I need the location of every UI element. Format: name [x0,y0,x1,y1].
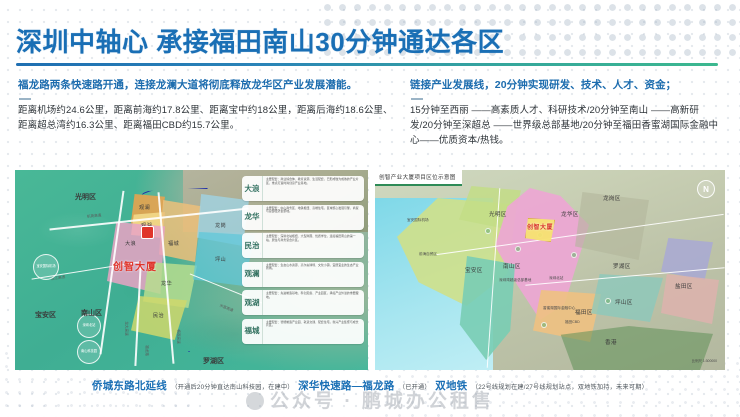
info-card-body: 主要配套：商业综合体、教育资源、生活配套，已形成较为成熟的产业片区，重点打造时尚… [263,176,364,201]
caption-note-3: （22号线规划在建/27号线规划站点，双地铁加持，未来可期） [472,384,648,391]
caption-note-2: （已开通） [399,384,431,391]
caption-note-1: （开通后20分钟直达南山科技园，在建中） [171,384,293,391]
right-map-poi-label-1: 前海自贸区 [419,252,437,257]
left-map-info-card-list: 大浪 主要配套：商业综合体、教育资源、生活配套，已形成较为成熟的产业片区，重点打… [242,176,364,347]
right-map-poi-label-0: 宝安国际机场 [407,218,429,223]
right-map-district-label-6: 福田区 [575,308,593,316]
right-map-poi-dot-4 [541,322,547,328]
right-map-district-label-9: 香港 [605,338,617,346]
left-map-poi-tech-park-label: 南山科技园 [81,350,97,354]
left-map-sub-label-4: 观澜 [139,204,150,211]
right-map-image: 创智大厦 光明区 龙华区 龙岗区 宝安区 南山区 罗湖区 福田区 盐田区 坪山区… [375,170,725,370]
left-map-poi-airport-label: 宝安国际机场 [36,265,55,269]
right-map-poi-dot-0 [485,228,491,234]
left-map-sub-label-5: 龙华 [161,280,172,287]
info-card[interactable]: 大浪 主要配套：商业综合体、教育资源、生活配套，已形成较为成熟的产业片区，重点打… [242,176,364,201]
info-card-key: 龙华 [242,205,263,230]
watermark-logo-icon [246,392,264,410]
intro-column-right: 链接产业发展线，20分钟实现研发、技术、人才、资金； 15分钟至西丽 ——高素质… [410,78,722,148]
right-tick-divider [411,98,423,100]
info-card-key: 观湖 [242,290,263,315]
info-card-body: 主要配套：智能制造产业园、轨道交通、配套住宅，新兴产业集聚与成长片区。 [263,319,364,344]
page-header: 深圳中轴心 承接福田南山30分钟通达各区 [0,22,740,70]
caption-highlight-3: 双地铁 [435,380,467,392]
left-map-road-label-3: 梅观高速 [176,329,181,343]
intro-column-left: 福龙路两条快速路开通，连接龙澜大道将彻底释放龙华区产业发展潜能。 距离机场约24… [18,78,396,134]
compass-icon: N [697,180,715,198]
info-card[interactable]: 龙华 主要配套：中心商务区、地铁枢纽、高端住宅，区域核心发展引擎，商贸与总部经济… [242,205,364,230]
right-map-district-label-7: 盐田区 [675,282,693,290]
left-map-district-label-5: 坪山 [215,256,226,263]
right-map-district-label-4: 南山区 [503,262,521,270]
left-map-district-label-0: 光明区 [75,192,96,202]
info-card-key: 大浪 [242,176,263,201]
right-map-title-banner: 创智产业大厦项目区位示意图 [375,170,462,186]
info-card-key: 观澜 [242,262,263,287]
info-card-body: 主要配套：先进制造基地、科创走廊、产业园区，承接产业外溢的重要腹地。 [263,290,364,315]
right-map-district-label-3: 宝安区 [465,266,483,274]
left-map-district-label-3: 罗湖区 [203,356,224,366]
maps-row: 机荷高速 沿江高速 龙大高速 梅观高速 福龙路 水官高速 宝安国际机场 深圳北站… [0,170,740,370]
title-divider-rule [16,63,718,66]
left-map-road-label-4: 福龙路 [144,345,149,356]
info-card[interactable]: 福城 主要配套：智能制造产业园、轨道交通、配套住宅，新兴产业集聚与成长片区。 [242,319,364,344]
page-title: 深圳中轴心 承接福田南山30分钟通达各区 [16,22,504,59]
right-body-text: 15分钟至西丽 ——高素质人才、科研技术/20分钟至南山 ——高新研发/20分钟… [410,104,722,148]
page-title-part-2: 承接福田南山30分钟通达各区 [156,27,504,57]
left-map-poi-airport: 宝安国际机场 [33,254,59,280]
right-map-poi-dot-1 [515,246,521,252]
right-lead-text: 链接产业发展线，20分钟实现研发、技术、人才、资金； [410,78,722,93]
left-map-poi-north-station-label: 深圳北站 [83,324,96,328]
left-tick-divider [19,98,31,100]
left-map-project-marker [141,226,154,239]
right-map-district-label-1: 龙华区 [561,210,579,218]
right-map-poi-label-5: 福田CBD [565,320,580,325]
left-map-sub-label-6: 民治 [153,312,164,319]
left-map-district-label-1: 宝安区 [35,310,56,320]
right-map-poi-label-4: 香蜜湖国际金融中心 [543,306,575,311]
info-card-key: 民治 [242,233,263,258]
right-map-district-label-0: 光明区 [489,210,507,218]
right-map-project-label: 创智大厦 [527,222,553,231]
info-card[interactable]: 民治 主要配套：深圳北站枢纽、大型商圈、优质学位，连接福田南山的第一站，居住与商… [242,233,364,258]
caption-highlight-2: 深华快速路—福龙路 [298,380,394,392]
left-body-text: 距离机场约24.6公里，距离前海约17.8公里、距离宝中约18公里，距离后海约1… [18,104,396,133]
info-card[interactable]: 观澜 主要配套：生态山水资源、高尔夫球场、文化小镇，宜居宜业的生态产业新城。 [242,262,364,287]
left-map-sub-label-2: 大浪 [125,240,136,247]
info-card[interactable]: 观湖 主要配套：先进制造基地、科创走廊、产业园区，承接产业外溢的重要腹地。 [242,290,364,315]
right-map-district-label-8: 坪山区 [615,298,633,306]
right-map-district-label-5: 罗湖区 [613,262,631,270]
intro-columns: 福龙路两条快速路开通，连接龙澜大道将彻底释放龙华区产业发展潜能。 距离机场约24… [0,78,740,162]
info-card-body: 主要配套：生态山水资源、高尔夫球场、文化小镇，宜居宜业的生态产业新城。 [263,262,364,287]
right-map-poi-dot-5 [605,298,611,304]
page-title-part-1: 深圳中轴心 [16,27,149,57]
right-map-poi-dot-3 [571,252,577,258]
right-map-poi-label-3: 深圳北站 [549,276,563,281]
left-map-image: 机荷高速 沿江高速 龙大高速 梅观高速 福龙路 水官高速 宝安国际机场 深圳北站… [15,170,368,370]
compass-north-label: N [703,185,709,194]
right-map-scale-label: 比例尺 1:300000 [692,358,717,363]
info-card-key: 福城 [242,319,263,344]
watermark-text: 公众号 · 鹏城办公租售 [270,391,494,412]
info-card-body: 主要配套：深圳北站枢纽、大型商圈、优质学位，连接福田南山的第一站，居住与商务复合… [263,233,364,258]
caption-highlight-1: 侨城东路北延线 [92,380,167,392]
left-map-district-label-2: 南山区 [81,308,102,318]
left-map-road-label-2: 龙大高速 [124,321,129,335]
left-lead-text: 福龙路两条快速路开通，连接龙澜大道将彻底释放龙华区产业发展潜能。 [18,78,396,93]
left-map-sub-label-3: 福城 [168,240,179,247]
right-map-district-label-2: 龙岗区 [603,194,621,202]
bottom-caption: 侨城东路北延线 （开通后20分钟直达南山科技园，在建中） 深华快速路—福龙路 （… [0,376,740,392]
left-map-project-label: 创智大厦 [113,258,157,273]
info-card-body: 主要配套：中心商务区、地铁枢纽、高端住宅，区域核心发展引擎，商贸与总部经济集聚地… [263,205,364,230]
left-map-district-label-4: 龙岗 [215,222,226,229]
left-map-poi-tech-park: 南山科技园 [77,340,101,364]
right-map-poi-label-2: 深圳湾超级总部基地 [499,278,531,283]
